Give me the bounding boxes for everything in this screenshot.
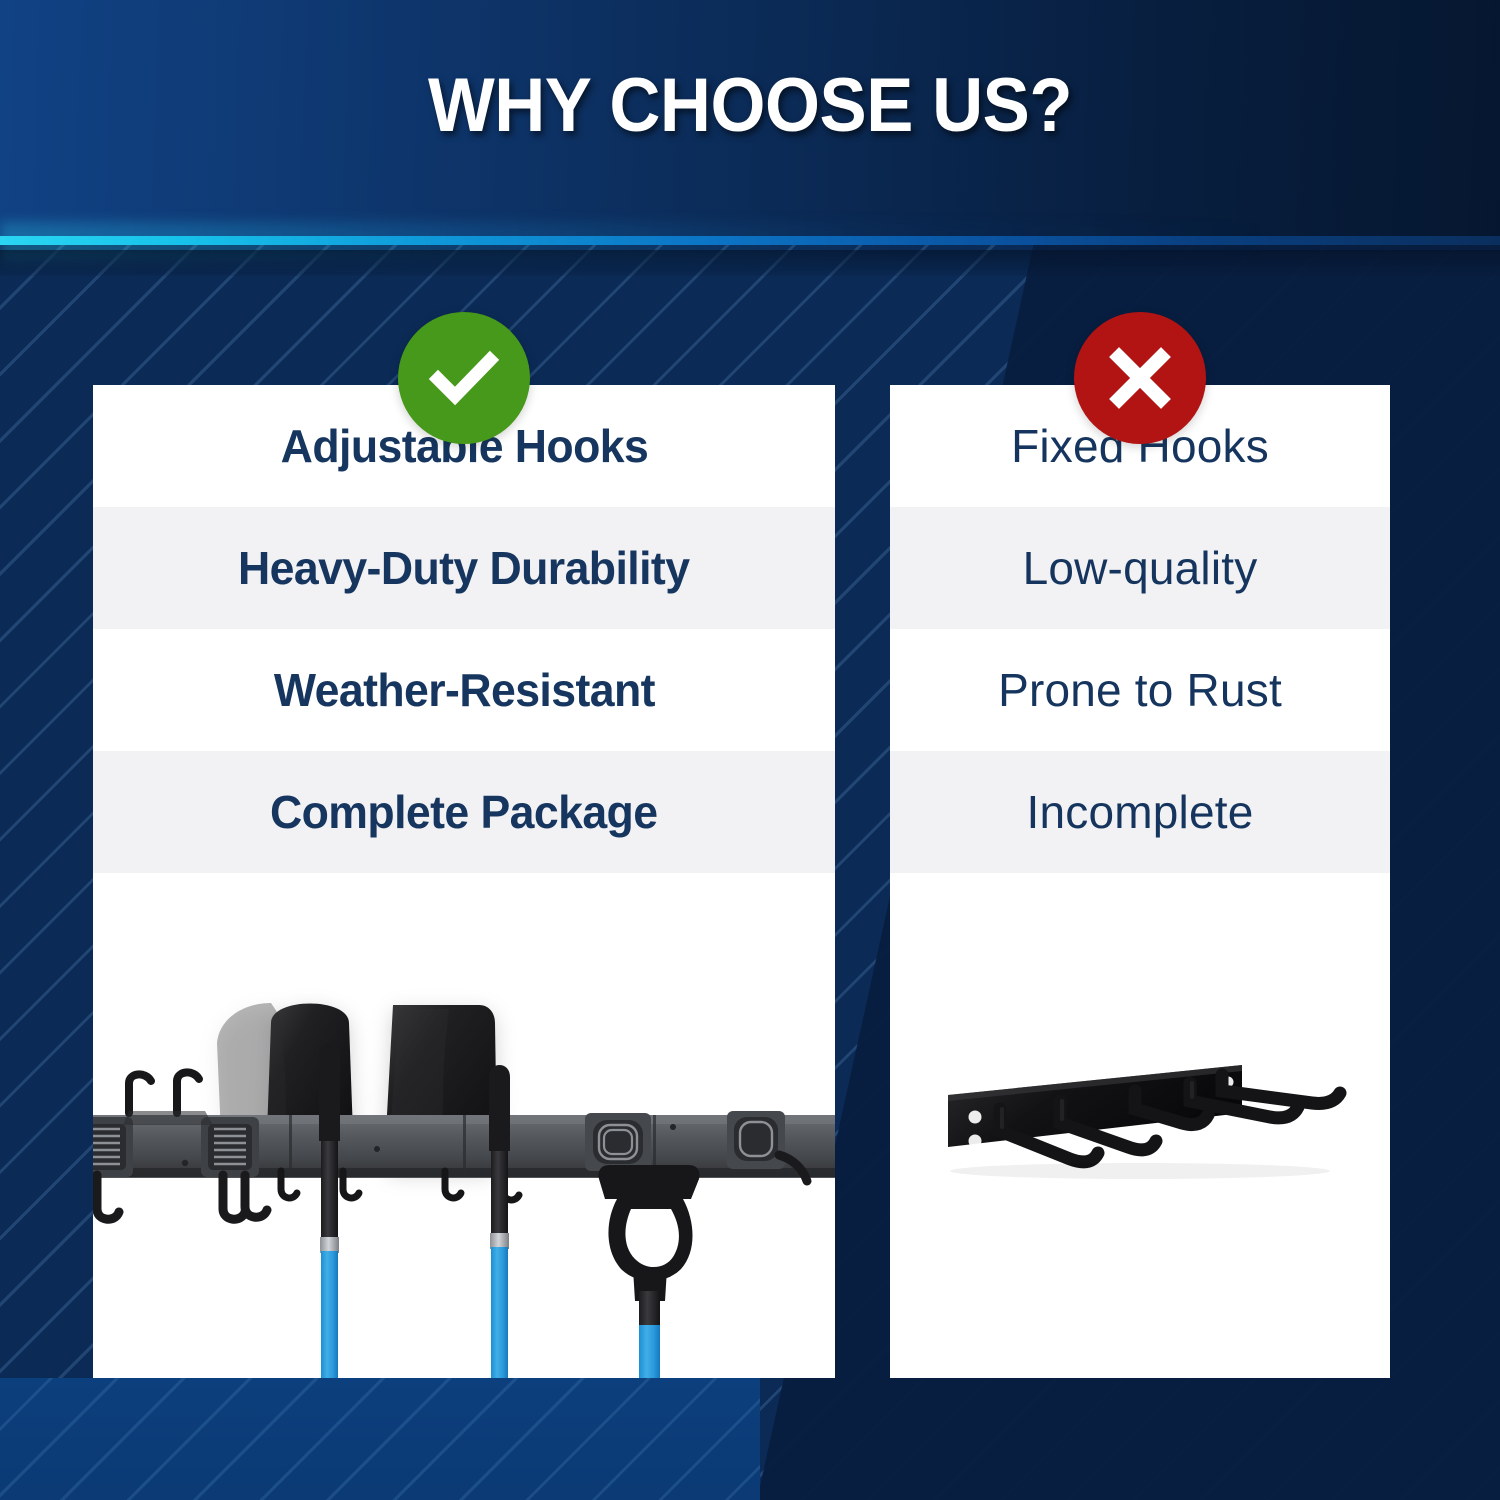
- list-item: Low-quality: [890, 507, 1390, 629]
- pro-feature-label: Heavy-Duty Durability: [238, 541, 689, 595]
- pro-product-image: [93, 985, 835, 1378]
- con-feature-label: Incomplete: [1026, 785, 1253, 839]
- con-feature-label: Prone to Rust: [998, 663, 1282, 717]
- accent-streak-core: [0, 236, 1500, 245]
- list-item: Prone to Rust: [890, 629, 1390, 751]
- pro-feature-label: Complete Package: [270, 785, 657, 839]
- list-item: Weather-Resistant: [93, 629, 835, 751]
- pro-comparison-card: Adjustable Hooks Heavy-Duty Durability W…: [93, 385, 835, 1378]
- bottom-stripe-pattern: [0, 1378, 760, 1500]
- check-icon: [425, 339, 503, 417]
- x-icon: [1105, 343, 1175, 413]
- pro-feature-list: Adjustable Hooks Heavy-Duty Durability W…: [93, 385, 835, 873]
- bottom-blue-band-left: [0, 1378, 760, 1500]
- list-item: Heavy-Duty Durability: [93, 507, 835, 629]
- pro-check-badge: [398, 312, 530, 444]
- page-title: WHY CHOOSE US?: [53, 62, 1448, 149]
- con-comparison-card: Fixed Hooks Low-quality Prone to Rust In…: [890, 385, 1390, 1378]
- tool-handles: [319, 1043, 700, 1378]
- pro-feature-label: Weather-Resistant: [273, 663, 654, 717]
- con-product-image: [890, 1025, 1390, 1285]
- con-feature-label: Low-quality: [1023, 541, 1258, 595]
- con-x-badge: [1074, 312, 1206, 444]
- con-feature-list: Fixed Hooks Low-quality Prone to Rust In…: [890, 385, 1390, 873]
- accent-streak-shadow: [0, 250, 1500, 276]
- list-item: Complete Package: [93, 751, 835, 873]
- list-item: Incomplete: [890, 751, 1390, 873]
